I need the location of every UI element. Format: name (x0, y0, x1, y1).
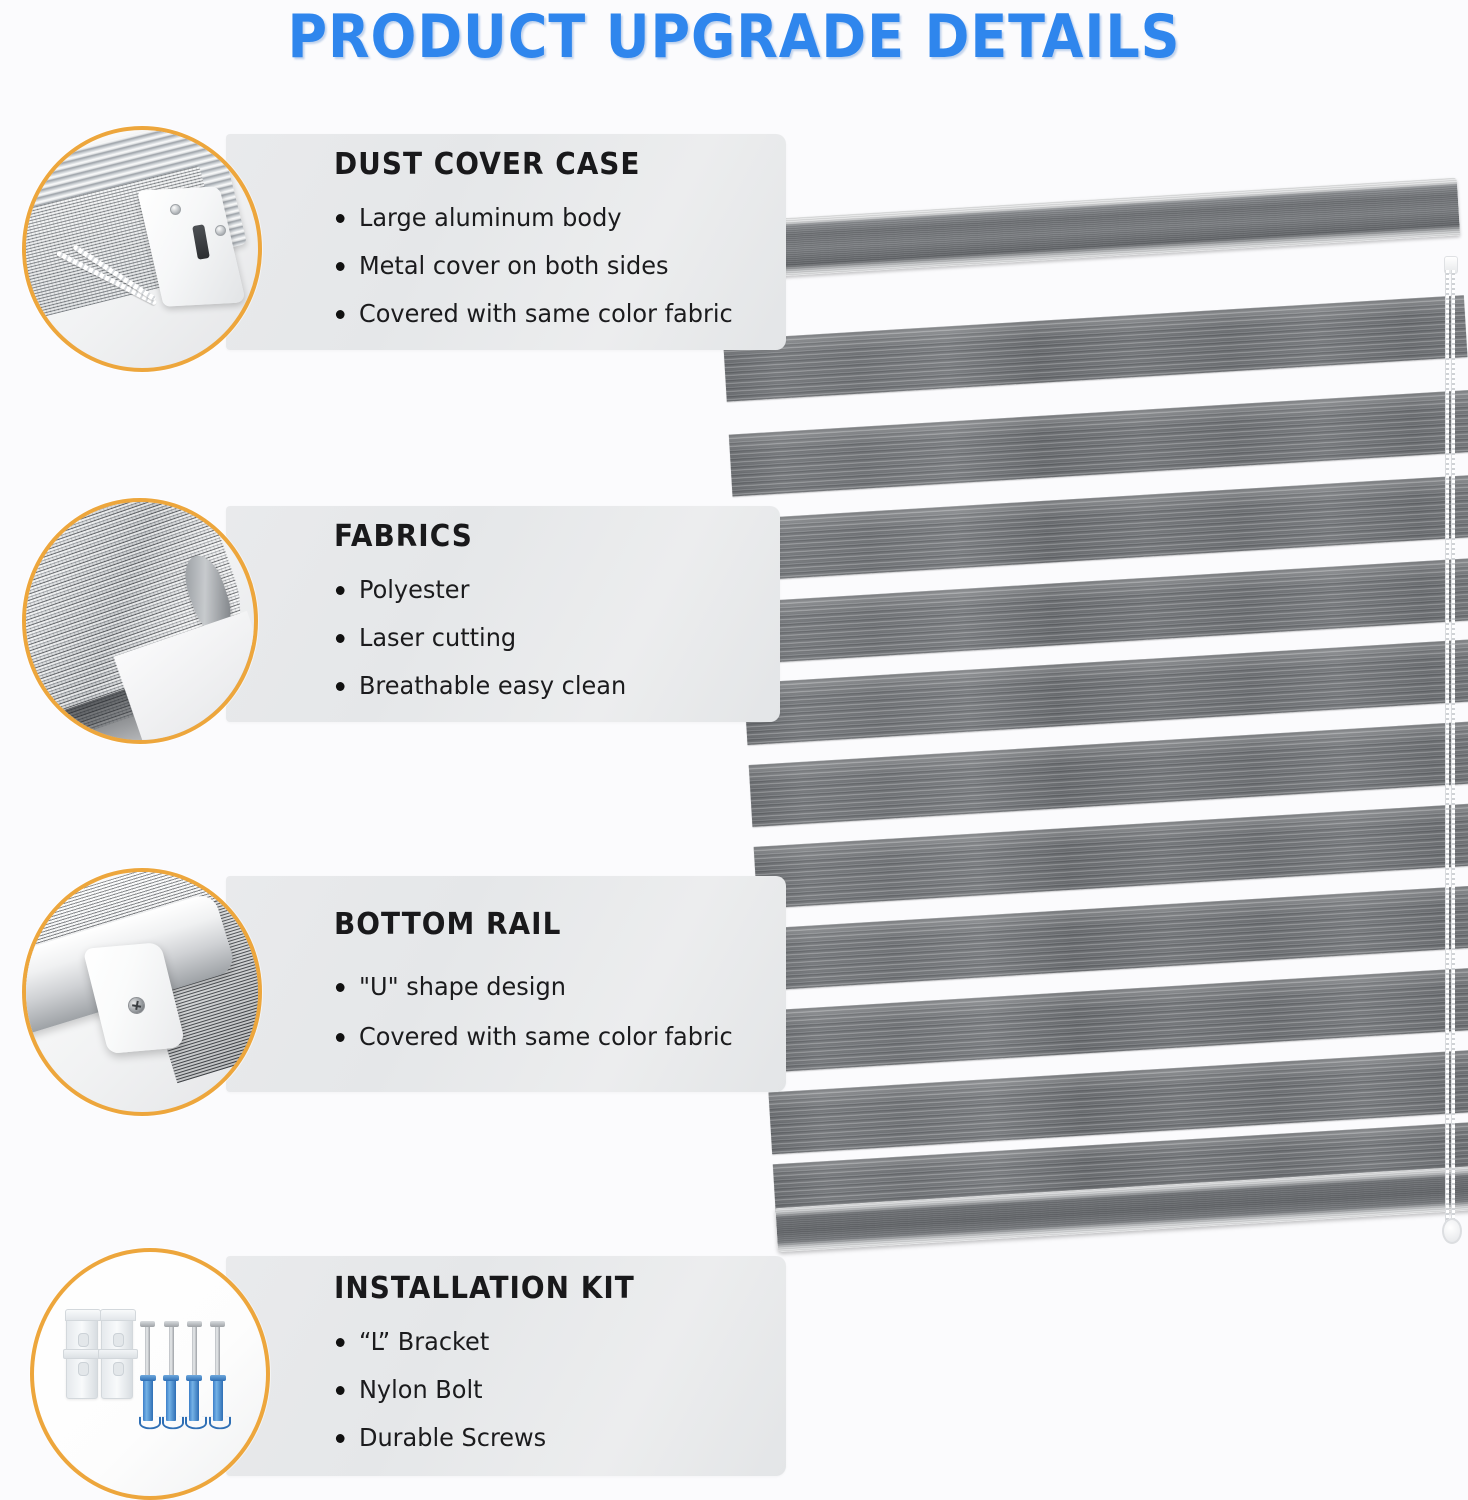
chain-cord-left (1445, 270, 1449, 1225)
feature-panel: BOTTOM RAIL "U" shape design Covered wit… (226, 876, 786, 1092)
nylon-anchor-icon (143, 1379, 153, 1421)
l-bracket-icon (101, 1315, 133, 1399)
bullet-dot-icon (336, 586, 345, 595)
feature-bullet: Laser cutting (334, 614, 762, 662)
feature-block-fabrics: FABRICS Polyester Laser cutting Breathab… (0, 498, 800, 730)
infographic-canvas: PRODUCT UPGRADE DETAILS DUST COVER (0, 0, 1468, 1500)
nylon-anchor-icon (213, 1379, 223, 1421)
feature-block-bottom-rail: BOTTOM RAIL "U" shape design Covered wit… (0, 868, 800, 1100)
bullet-dot-icon (336, 983, 345, 992)
chain-tensioner[interactable] (1442, 1218, 1462, 1244)
bottom-rail-photo (22, 868, 262, 1116)
bullet-dot-icon (336, 214, 345, 223)
feature-block-installation-kit: INSTALLATION KIT “L” Bracket Nylon Bolt … (0, 1248, 800, 1484)
bullet-dot-icon (336, 1434, 345, 1443)
bead-chain[interactable] (1445, 270, 1455, 1260)
screw-icon (215, 1325, 220, 1377)
bullet-dot-icon (336, 634, 345, 643)
nylon-anchor-icon (166, 1379, 176, 1421)
feature-panel: FABRICS Polyester Laser cutting Breathab… (226, 506, 780, 722)
feature-bullet: "U" shape design (334, 962, 768, 1012)
bullet-dot-icon (336, 1338, 345, 1347)
screw-icon (169, 1325, 174, 1377)
page-title: PRODUCT UPGRADE DETAILS (73, 2, 1394, 72)
bullet-dot-icon (336, 682, 345, 691)
dust-cover-case-photo (22, 126, 262, 372)
feature-bullet: Covered with same color fabric (334, 290, 768, 338)
screw-icon (192, 1325, 197, 1377)
screw-icon (145, 1325, 150, 1377)
feature-bullet: Large aluminum body (334, 194, 768, 242)
feature-heading: FABRICS (334, 519, 749, 554)
l-bracket-icon (66, 1315, 98, 1399)
blind-fabric-assembly (716, 177, 1468, 1230)
feature-bullet: Metal cover on both sides (334, 242, 768, 290)
feature-bullet-list: “L” Bracket Nylon Bolt Durable Screws (334, 1318, 786, 1462)
feature-block-dust-cover-case: DUST COVER CASE Large aluminum body Meta… (0, 126, 800, 358)
fabric-band (729, 390, 1468, 497)
bullet-dot-icon (336, 1033, 345, 1042)
feature-bullet: Nylon Bolt (334, 1366, 768, 1414)
product-zebra-blind-image (716, 222, 1468, 1272)
feature-bullet-list: Polyester Laser cutting Breathable easy … (334, 566, 780, 710)
bullet-dot-icon (336, 310, 345, 319)
feature-bullet: Durable Screws (334, 1414, 768, 1462)
fabric-band (723, 295, 1467, 402)
installation-kit-photo (30, 1248, 270, 1500)
feature-heading: DUST COVER CASE (334, 147, 754, 182)
bullet-dot-icon (336, 262, 345, 271)
nylon-anchor-icon (189, 1379, 199, 1421)
fabric-photo (22, 498, 258, 744)
feature-bullet: “L” Bracket (334, 1318, 768, 1366)
feature-heading: INSTALLATION KIT (334, 1271, 754, 1306)
chain-cord-right (1451, 270, 1455, 1225)
feature-heading: BOTTOM RAIL (334, 907, 754, 942)
feature-bullet: Covered with same color fabric (334, 1012, 768, 1062)
feature-bullet-list: Large aluminum body Metal cover on both … (334, 194, 786, 338)
feature-panel: INSTALLATION KIT “L” Bracket Nylon Bolt … (226, 1256, 786, 1476)
bullet-dot-icon (336, 1386, 345, 1395)
feature-panel: DUST COVER CASE Large aluminum body Meta… (226, 134, 786, 350)
feature-bullet: Breathable easy clean (334, 662, 762, 710)
feature-bullet: Polyester (334, 566, 762, 614)
feature-bullet-list: "U" shape design Covered with same color… (334, 962, 786, 1062)
head-rail (716, 177, 1460, 280)
